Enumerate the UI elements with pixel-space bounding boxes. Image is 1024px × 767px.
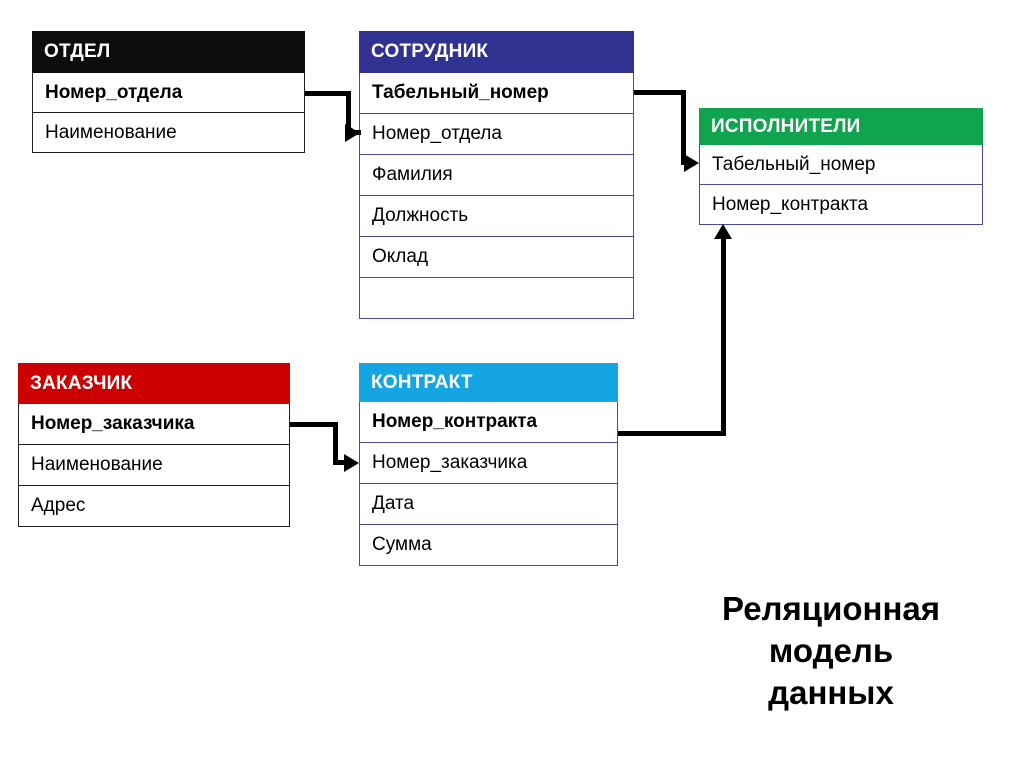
entity-field-kontrakt-0: Номер_контракта: [359, 402, 618, 443]
entity-field-ispolniteli-1: Номер_контракта: [699, 185, 983, 225]
entity-field-otdel-0: Номер_отдела: [32, 73, 305, 113]
entity-table-kontrakt: КОНТРАКТНомер_контрактаНомер_заказчикаДа…: [359, 363, 618, 566]
arrowhead-zakazchik-kontrakt: [344, 454, 359, 472]
entity-header-kontrakt: КОНТРАКТ: [359, 363, 618, 402]
caption-line-1: Реляционная: [668, 588, 994, 630]
entity-field-kontrakt-1: Номер_заказчика: [359, 443, 618, 484]
arrowhead-kontrakt-ispolniteli: [714, 224, 732, 239]
relational-model-diagram: ОТДЕЛНомер_отделаНаименованиеСОТРУДНИКТа…: [0, 0, 1024, 767]
connector-zakazchik-kontrakt-segment-1: [290, 422, 338, 427]
entity-table-otdel: ОТДЕЛНомер_отделаНаименование: [32, 31, 305, 153]
entity-field-kontrakt-2: Дата: [359, 484, 618, 525]
arrowhead-sotrudnik-ispolniteli: [684, 154, 699, 172]
entity-header-sotrudnik: СОТРУДНИК: [359, 31, 634, 73]
connector-zakazchik-kontrakt-segment-2: [333, 422, 338, 464]
entity-field-sotrudnik-3: Должность: [359, 196, 634, 237]
connector-sotrudnik-ispolniteli-segment-1: [634, 90, 686, 95]
entity-table-zakazchik: ЗАКАЗЧИКНомер_заказчикаНаименованиеАдрес: [18, 363, 290, 527]
entity-table-sotrudnik: СОТРУДНИКТабельный_номерНомер_отделаФами…: [359, 31, 634, 319]
connector-kontrakt-ispolniteli-segment-2: [721, 238, 726, 436]
arrowhead-otdel-sotrudnik: [345, 124, 360, 142]
entity-field-ispolniteli-0: Табельный_номер: [699, 145, 983, 185]
entity-field-sotrudnik-4: Оклад: [359, 237, 634, 278]
entity-header-zakazchik: ЗАКАЗЧИК: [18, 363, 290, 404]
entity-field-zakazchik-2: Адрес: [18, 486, 290, 527]
entity-header-otdel: ОТДЕЛ: [32, 31, 305, 73]
entity-field-sotrudnik-5: [359, 278, 634, 319]
entity-field-zakazchik-1: Наименование: [18, 445, 290, 486]
entity-header-ispolniteli: ИСПОЛНИТЕЛИ: [699, 108, 983, 145]
entity-field-zakazchik-0: Номер_заказчика: [18, 404, 290, 445]
diagram-caption: Реляционная модель данных: [668, 588, 994, 715]
caption-line-2: модель: [668, 630, 994, 672]
entity-field-sotrudnik-1: Номер_отдела: [359, 114, 634, 155]
entity-field-otdel-1: Наименование: [32, 113, 305, 153]
connector-otdel-sotrudnik-segment-1: [305, 91, 351, 96]
entity-field-kontrakt-3: Сумма: [359, 525, 618, 566]
entity-field-sotrudnik-0: Табельный_номер: [359, 73, 634, 114]
entity-table-ispolniteli: ИСПОЛНИТЕЛИТабельный_номерНомер_контракт…: [699, 108, 983, 225]
connector-kontrakt-ispolniteli-segment-1: [618, 431, 726, 436]
caption-line-3: данных: [668, 672, 994, 714]
entity-field-sotrudnik-2: Фамилия: [359, 155, 634, 196]
